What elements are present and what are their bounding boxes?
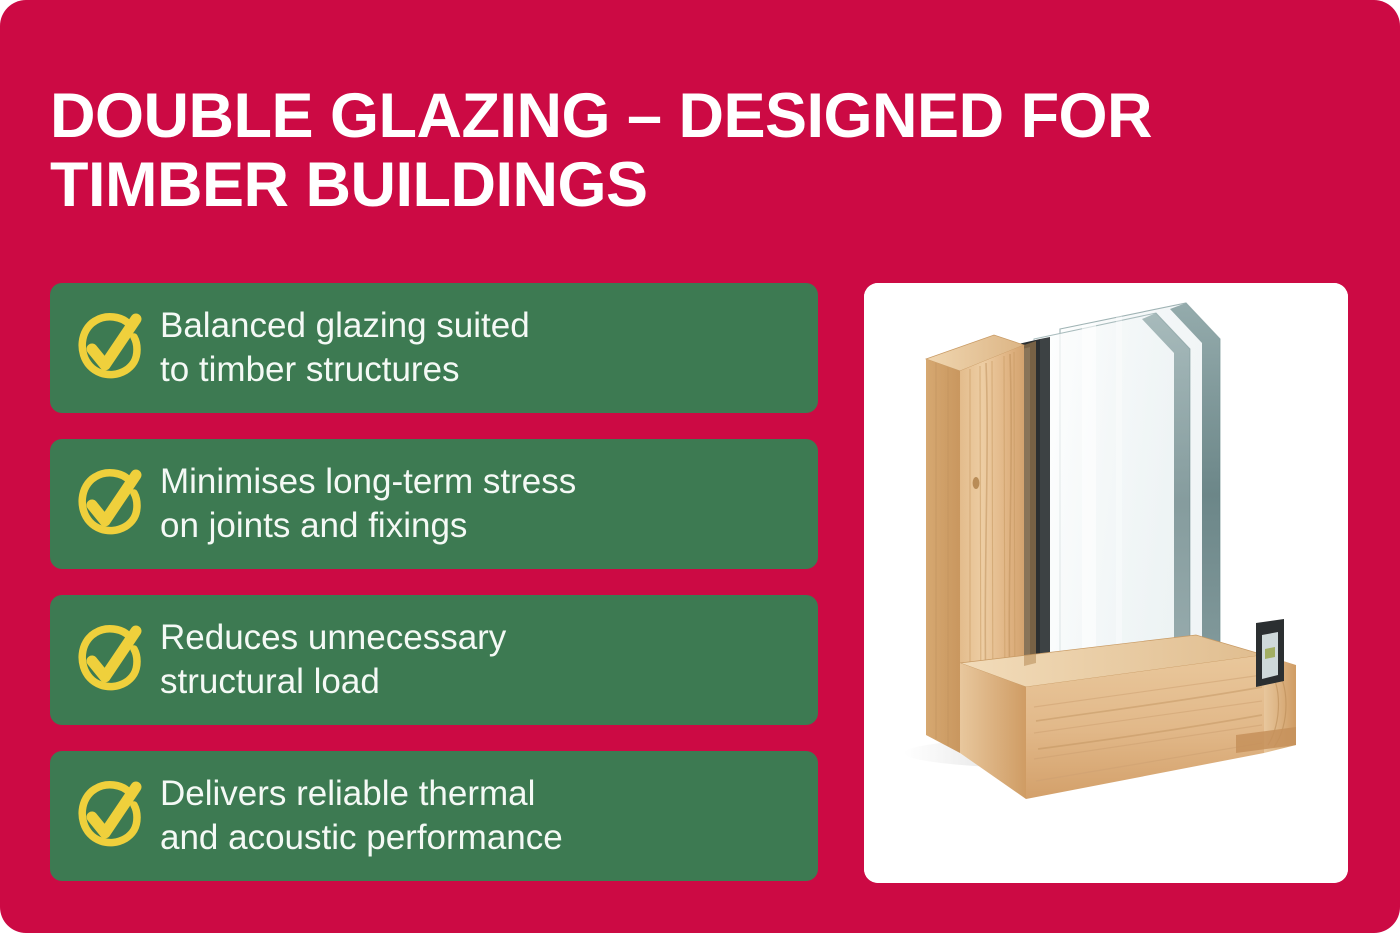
list-item: Minimises long-term stress on joints and… [50, 439, 818, 569]
list-item: Reduces unnecessary structural load [50, 595, 818, 725]
list-item-label: Minimises long-term stress on joints and… [160, 460, 576, 549]
list-item-label: Delivers reliable thermal and acoustic p… [160, 772, 563, 861]
list-item-label: Balanced glazing suited to timber struct… [160, 304, 530, 393]
check-circle-icon [72, 623, 146, 697]
list-item-label: Reduces unnecessary structural load [160, 616, 506, 705]
check-circle-icon [72, 467, 146, 541]
list-item: Balanced glazing suited to timber struct… [50, 283, 818, 413]
infographic-canvas: DOUBLE GLAZING – DESIGNED FOR TIMBER BUI… [0, 0, 1400, 933]
list-item: Delivers reliable thermal and acoustic p… [50, 751, 818, 881]
product-image-panel [864, 283, 1348, 883]
page-title: DOUBLE GLAZING – DESIGNED FOR TIMBER BUI… [50, 82, 1350, 219]
timber-window-frame-image [864, 283, 1348, 883]
check-circle-icon [72, 779, 146, 853]
benefits-list: Balanced glazing suited to timber struct… [50, 283, 818, 881]
check-circle-icon [72, 311, 146, 385]
